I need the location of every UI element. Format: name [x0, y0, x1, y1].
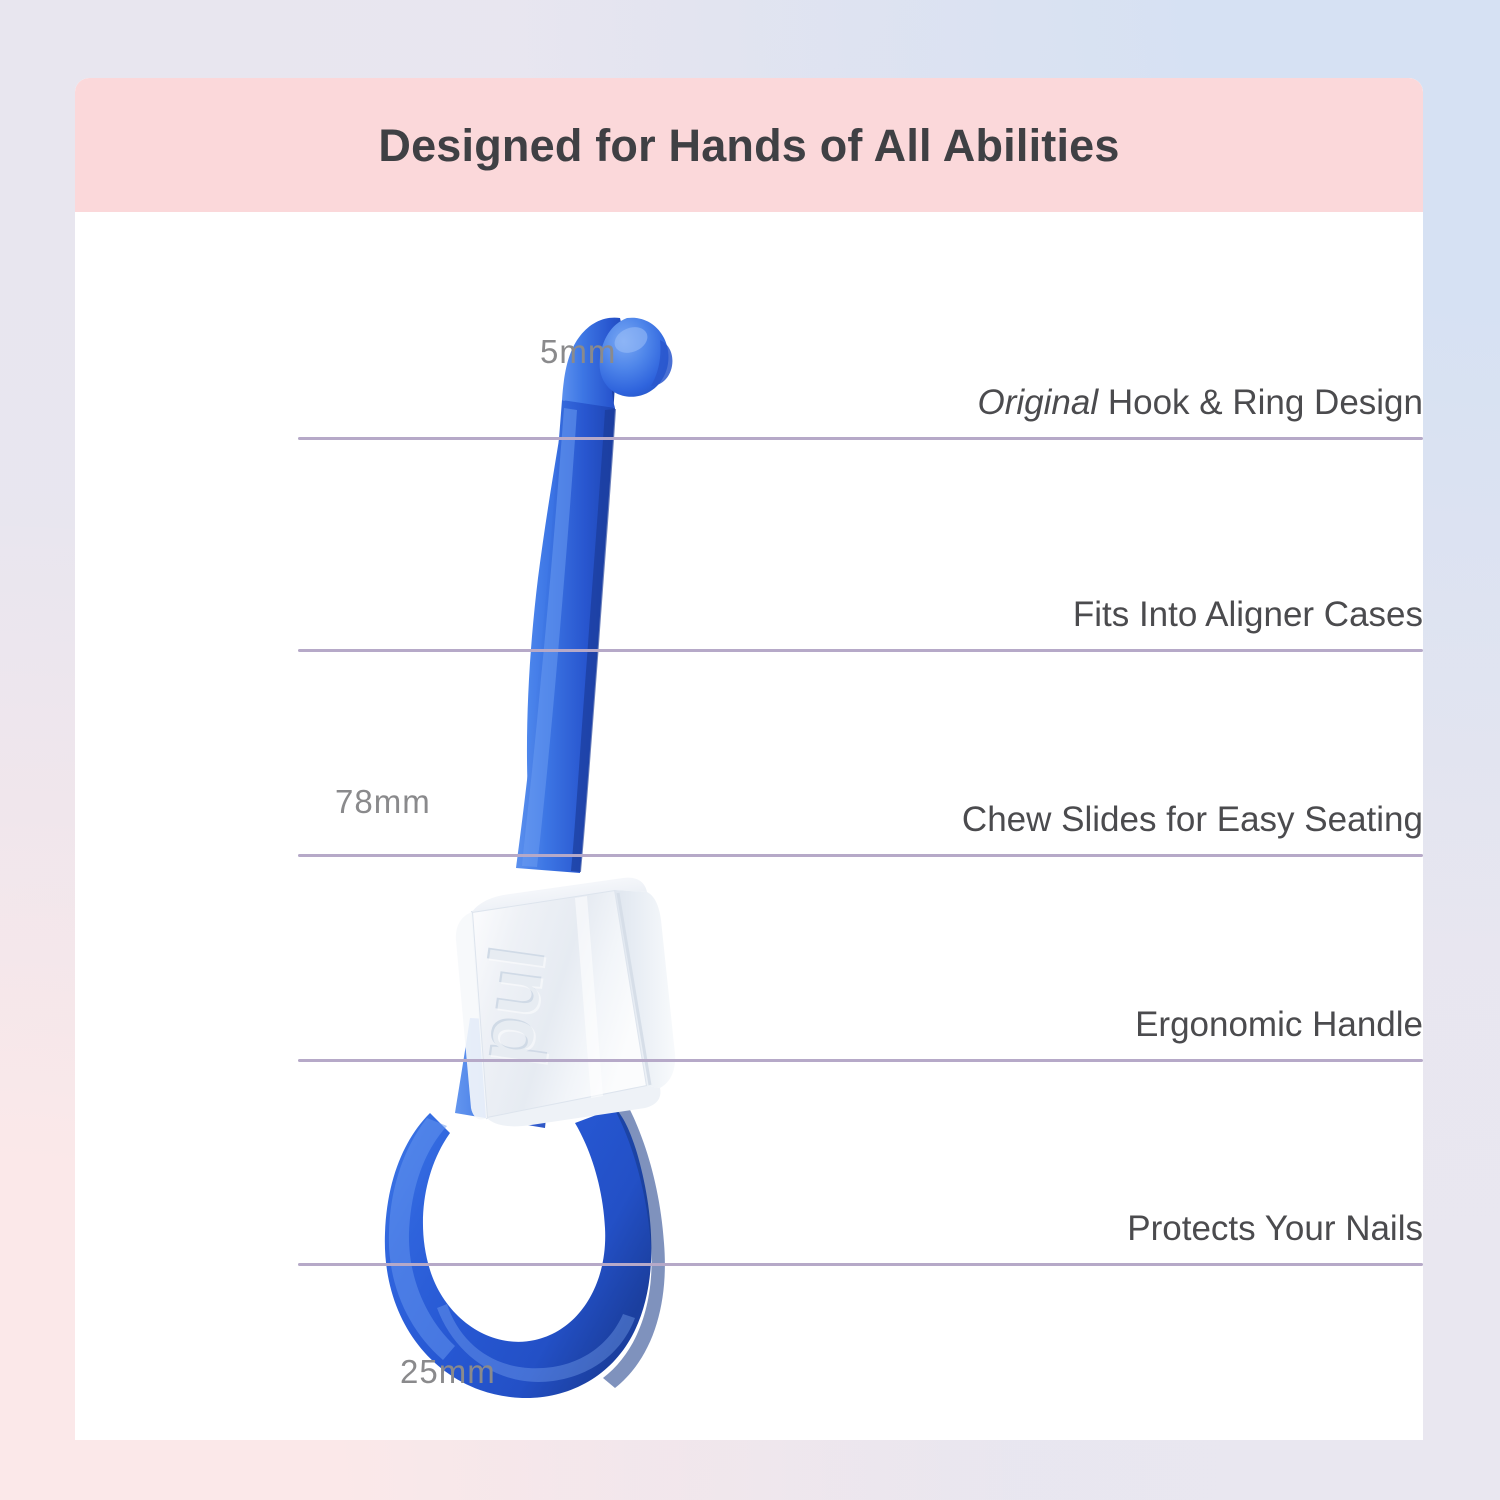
tool-hook-highlight — [611, 323, 652, 358]
tool-hook-notch — [651, 340, 672, 386]
feature-rule-5 — [298, 1263, 1423, 1266]
chew-slider-bevel-bottom — [487, 1086, 660, 1126]
feature-callout-4: Ergonomic Handle — [298, 1006, 1423, 1062]
feature-callout-2: Fits Into Aligner Cases — [298, 596, 1423, 652]
chew-slider-gloss — [575, 896, 603, 1098]
feature-label-1: Original Hook & Ring Design — [298, 384, 1423, 423]
header-band: Designed for Hands of All Abilities — [75, 78, 1423, 212]
page-backdrop: Designed for Hands of All Abilities — [0, 0, 1500, 1500]
chew-slider-bevel-top — [472, 878, 647, 912]
feature-rule-4 — [298, 1059, 1423, 1062]
feature-rule-2 — [298, 649, 1423, 652]
feature-label-1-emphasis: Original — [978, 383, 1099, 422]
feature-label-3: Chew Slides for Easy Seating — [298, 801, 1423, 840]
feature-label-1-rest: Hook & Ring Design — [1098, 383, 1423, 422]
feature-rule-3 — [298, 854, 1423, 857]
page-title: Designed for Hands of All Abilities — [378, 123, 1119, 168]
chew-slider-face — [472, 890, 647, 1118]
dimension-label-bottom: 25mm — [400, 1353, 496, 1391]
dimension-label-top: 5mm — [540, 333, 616, 371]
feature-label-4: Ergonomic Handle — [298, 1006, 1423, 1045]
feature-label-2: Fits Into Aligner Cases — [298, 596, 1423, 635]
product-info-card: Designed for Hands of All Abilities — [75, 78, 1423, 1440]
feature-callout-1: Original Hook & Ring Design — [298, 384, 1423, 440]
feature-label-5: Protects Your Nails — [298, 1210, 1423, 1249]
feature-callout-5: Protects Your Nails — [298, 1210, 1423, 1266]
feature-callout-3: Chew Slides for Easy Seating — [298, 801, 1423, 857]
feature-rule-1 — [298, 437, 1423, 440]
